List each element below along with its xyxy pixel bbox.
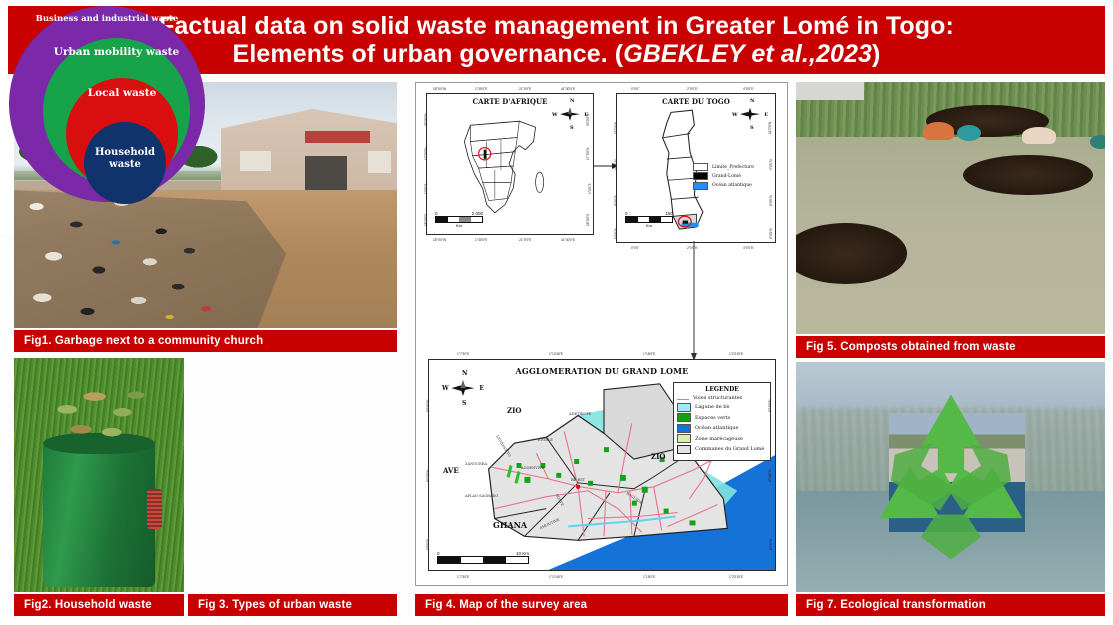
main-ytick-1: 6°15'0"N — [426, 400, 430, 412]
legend-row-ocean: Océan atlantique — [677, 424, 767, 433]
togo-ytick-r2: 9°0'0"N — [769, 159, 773, 170]
swatch-ocean-atlantique — [677, 424, 691, 433]
legend-label-3: Océan atlantique — [695, 425, 738, 431]
africa-xtick-b4: 41°30'0"E — [561, 238, 575, 242]
legend-label-4: Zone marécageuse — [695, 436, 743, 442]
africa-ytick-r2: 17°0'0"N — [586, 148, 590, 160]
clay-pot-orange — [923, 122, 954, 140]
swatch-zone-marecageuse — [677, 434, 691, 443]
map-label-aflao-sagbado: AFLAO SAGBADO — [465, 494, 498, 498]
green-waste-bag — [43, 438, 155, 588]
swatch-lagune-de-be — [677, 403, 691, 412]
title-line-1: Factual data on solid waste management i… — [159, 12, 954, 40]
africa-xtick-4: 41°30'0"E — [561, 87, 575, 91]
church-window-right — [368, 151, 391, 173]
swatch-grand-lome — [693, 172, 708, 180]
togo-xtick-3: 4°0'0"E — [743, 87, 753, 91]
africa-xtick-b3: 21°0'0"E — [519, 238, 531, 242]
compass-e: E — [479, 385, 484, 392]
figure-4-map-panel: CARTE D'AFRIQUE N S — [415, 82, 788, 586]
togo-ytick-r4: 6°0'0"N — [769, 228, 773, 239]
map-label-ave: AVE — [443, 466, 459, 475]
church-window-left — [240, 151, 271, 171]
poster-title: Factual data on solid waste management i… — [159, 12, 954, 68]
africa-ytick-r3: 1°0'0"S — [588, 184, 592, 194]
legend-row-communes: Communes du Grand Lomé — [677, 445, 767, 454]
main-xtick-1: 1°7'30"E — [457, 352, 469, 356]
togo-ytick-r3: 8°0'0"N — [769, 195, 773, 206]
compass-e: E — [764, 112, 768, 118]
ring-household-waste: Household waste — [84, 122, 166, 204]
figure-2-caption: Fig2. Household waste — [14, 594, 184, 616]
map-label-zio-north: ZIO — [507, 406, 521, 415]
church-sign — [305, 131, 370, 143]
compass-n: N — [750, 98, 755, 104]
main-map-legend: LEGENDE Voies structurantes Lagune de bè… — [673, 382, 771, 461]
swatch-ocean-atlantique — [693, 182, 708, 190]
main-xtick-2: 1°12'45"E — [549, 352, 563, 356]
main-scale-max: 10 Km — [516, 551, 529, 556]
main-xtick-4: 1°23'15"E — [729, 352, 743, 356]
africa-xtick-1: 18°0'0"W — [433, 87, 446, 91]
legend-label-5: Communes du Grand Lomé — [695, 446, 764, 452]
clay-pot-cream — [1022, 127, 1056, 143]
compass-n: N — [570, 98, 575, 104]
legend-label-2: Espaces verts — [695, 415, 730, 421]
figure-5-caption: Fig 5. Composts obtained from waste — [796, 336, 1105, 358]
poster-root: Factual data on solid waste management i… — [0, 0, 1113, 625]
main-ytick-2: 6°10'0"N — [426, 470, 430, 482]
map-label-be-est: BE-EST — [571, 478, 585, 482]
togo-legend: Limite_Prefecture Grand-Lomé Océan atlan… — [693, 162, 771, 191]
togo-scale-max: 150 — [665, 211, 673, 216]
compass-w: W — [552, 112, 558, 118]
map-label-zio-east: ZIO — [651, 452, 665, 461]
map-label-togble: TOGBLE — [537, 438, 553, 442]
togo-legend-label-2: Océan atlantique — [712, 183, 752, 188]
compass-s: S — [750, 125, 754, 131]
togo-scale-min: 0 — [625, 211, 628, 216]
figure-4-caption: Fig 4. Map of the survey area — [415, 594, 788, 616]
main-xtick-3: 1°18'0"E — [643, 352, 655, 356]
togo-compass: N S W E — [733, 101, 767, 129]
africa-ytick-r1: 33°0'0"N — [586, 114, 590, 126]
africa-ytick-3: 1°0'0"S — [424, 184, 428, 194]
compass-s: S — [570, 125, 574, 131]
map-label-agoenyive: AGOENYIVE — [521, 466, 544, 470]
background-wall — [796, 82, 864, 100]
legend-row-voies: Voies structurantes — [677, 395, 767, 401]
garden-leaves — [46, 381, 151, 451]
figure-7-caption: Fig 7. Ecological transformation — [796, 594, 1105, 616]
togo-ytick-r1: 11°0'0"N — [768, 122, 772, 134]
togo-scale-unit: Km — [625, 223, 673, 228]
figure-1-caption: Fig1. Garbage next to a community church — [14, 330, 397, 352]
legend-title: LEGENDE — [677, 386, 767, 393]
recycling-symbol-icon — [856, 387, 1046, 567]
main-xtick-b4: 1°23'15"E — [729, 575, 743, 579]
figure-5-photo — [796, 82, 1105, 334]
africa-compass: N S W E — [553, 101, 587, 129]
map-label-zanguera: ZANGUERA — [465, 462, 487, 466]
africa-scale-bar: 0 2 000 Km — [435, 211, 483, 229]
compass-s: S — [462, 400, 466, 407]
figure-3-caption: Fig 3. Types of urban waste — [188, 594, 397, 616]
bag-handle — [147, 489, 162, 529]
africa-inset-map: CARTE D'AFRIQUE N S — [426, 93, 594, 235]
togo-legend-row: Océan atlantique — [693, 182, 771, 190]
map-label-ghana: GHANA — [493, 520, 527, 530]
togo-xtick-b1: 0°0'0" — [631, 246, 639, 250]
africa-ytick-4: 18°0'0"S — [424, 214, 428, 226]
main-ytick-3: 6°5'0"N — [426, 539, 430, 550]
togo-ytick-2: 9°0'0"N — [614, 159, 618, 170]
africa-xtick-3: 21°0'0"E — [519, 87, 531, 91]
compass-n: N — [462, 370, 467, 377]
compost-heap-2 — [963, 155, 1093, 195]
togo-xtick-b3: 4°0'0"E — [743, 246, 753, 250]
figure-2-photo — [14, 358, 184, 592]
legend-label-1: Lagune de bè — [695, 404, 729, 410]
togo-ytick-4: 6°0'0"N — [614, 228, 618, 239]
swatch-limite-prefecture — [693, 163, 708, 171]
africa-scale-unit: Km — [435, 223, 483, 228]
togo-scale-bar: 0 150 Km — [625, 211, 673, 229]
africa-xtick-b1: 18°0'0"W — [433, 238, 446, 242]
togo-legend-row: Limite_Prefecture — [693, 163, 771, 171]
main-xtick-b1: 1°7'30"E — [457, 575, 469, 579]
main-xtick-b3: 1°18'0"E — [643, 575, 655, 579]
title-line-2-suffix: ) — [872, 40, 880, 68]
africa-ytick-2: 17°0'0"N — [424, 148, 428, 160]
togo-ytick-3: 8°0'0"N — [614, 195, 618, 206]
africa-xtick-2: 1°30'0"E — [475, 87, 487, 91]
main-ytick-r3: 6°5'0"N — [769, 539, 773, 550]
ring-label-household-waste: Household waste — [84, 147, 166, 204]
swatch-communes-grand-lome — [677, 445, 691, 454]
africa-scale-min: 0 — [435, 211, 438, 216]
bowl-green — [1090, 135, 1105, 149]
swatch-voies-structurantes — [677, 399, 689, 401]
africa-scale-max: 2 000 — [472, 211, 483, 216]
africa-ytick-1: 33°0'0"N — [424, 114, 428, 126]
title-citation: GBEKLEY et al.,2023 — [623, 40, 872, 68]
legend-row-lagune: Lagune de bè — [677, 403, 767, 412]
main-map-scale-bar: 0 10 Km — [437, 551, 529, 565]
map-label-adetikope: ADETIKOPE — [569, 412, 592, 416]
africa-continent-shape — [444, 111, 570, 223]
title-line-2-prefix: Elements of urban governance. ( — [233, 40, 624, 68]
grand-lome-main-map: AGGLOMERATION DU GRAND LOME — [428, 359, 776, 571]
main-xtick-b2: 1°12'45"E — [549, 575, 563, 579]
legend-row-marecageuse: Zone marécageuse — [677, 434, 767, 443]
main-map-compass: N S W E — [445, 374, 481, 404]
compass-w: W — [732, 112, 738, 118]
africa-xtick-b2: 1°30'0"E — [475, 238, 487, 242]
main-scale-min: 0 — [437, 551, 440, 556]
swatch-espaces-verts — [677, 413, 691, 422]
togo-xtick-1: 0°0'0" — [631, 87, 639, 91]
africa-ytick-r4: 18°0'0"S — [586, 214, 590, 226]
togo-xtick-2: 2°0'0"E — [687, 87, 697, 91]
togo-legend-label-0: Limite_Prefecture — [712, 165, 754, 170]
legend-row-espaces: Espaces verts — [677, 413, 767, 422]
legend-label-0: Voies structurantes — [693, 395, 742, 401]
togo-inset-map: CARTE DU TOGO N S W E — [616, 93, 776, 243]
main-ytick-r2: 6°10'0"N — [768, 470, 772, 482]
togo-legend-row: Grand-Lomé — [693, 172, 771, 180]
togo-ytick-1: 11°0'0"N — [614, 122, 618, 134]
togo-to-main-arrow — [688, 241, 700, 361]
figure-7-photo — [796, 362, 1105, 592]
compass-w: W — [442, 385, 449, 392]
togo-legend-label-1: Grand-Lomé — [712, 174, 741, 179]
main-ytick-r1: 6°15'0"N — [768, 400, 772, 412]
